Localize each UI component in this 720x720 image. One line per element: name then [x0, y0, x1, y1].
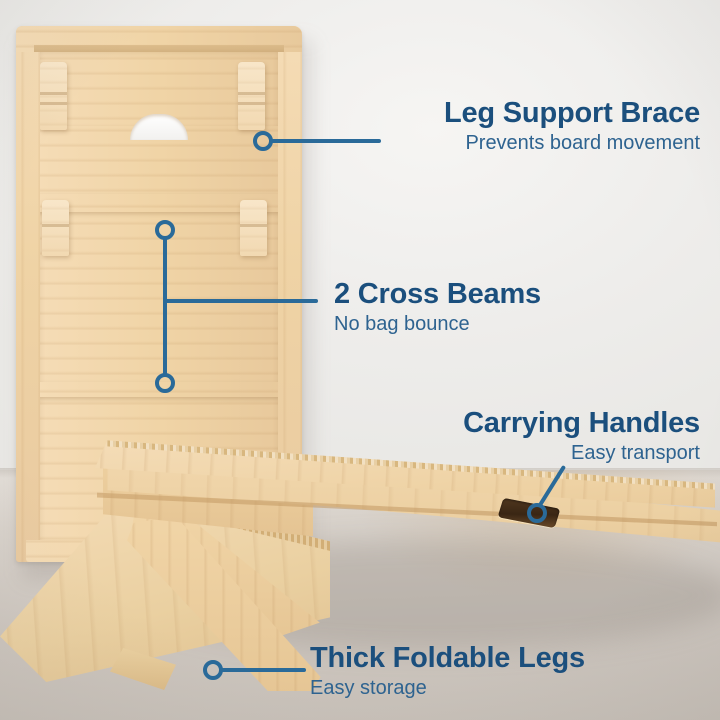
leg-support-brace-top-right: [238, 62, 265, 130]
leg-support-brace-bottom-right: [240, 200, 267, 256]
callout-foldable-legs: Thick Foldable Legs Easy storage: [310, 643, 585, 700]
callout-subtitle-foldable-legs: Easy storage: [310, 677, 585, 701]
callout-leader-foldable-legs: [221, 668, 306, 672]
standing-board-rail-top: [16, 26, 302, 52]
callout-title-leg-support-brace: Leg Support Brace: [444, 98, 700, 129]
callout-title-cross-beams: 2 Cross Beams: [334, 279, 541, 310]
callout-carrying-handles: Carrying Handles Easy transport: [463, 408, 700, 465]
callout-leader-cross-beams-vertical: [163, 238, 167, 375]
callout-leader-cross-beams-horizontal: [163, 299, 318, 303]
infographic-canvas: Leg Support Brace Prevents board movemen…: [0, 0, 720, 720]
callout-marker-foldable-legs[interactable]: [203, 660, 223, 680]
callout-leader-leg-support-brace: [271, 139, 381, 143]
callout-subtitle-leg-support-brace: Prevents board movement: [444, 132, 700, 156]
callout-marker-leg-support-brace[interactable]: [253, 131, 273, 151]
callout-leg-support-brace: Leg Support Brace Prevents board movemen…: [444, 98, 700, 155]
callout-marker-carrying-handles[interactable]: [527, 503, 547, 523]
callout-title-foldable-legs: Thick Foldable Legs: [310, 643, 585, 674]
leg-support-brace-bottom-left: [42, 200, 69, 256]
callout-title-carrying-handles: Carrying Handles: [463, 408, 700, 439]
callout-cross-beams: 2 Cross Beams No bag bounce: [334, 279, 541, 336]
callout-marker-cross-beam-upper[interactable]: [155, 220, 175, 240]
callout-marker-cross-beam-lower[interactable]: [155, 373, 175, 393]
callout-subtitle-cross-beams: No bag bounce: [334, 313, 541, 337]
standing-board-rail-left: [16, 26, 40, 562]
callout-subtitle-carrying-handles: Easy transport: [463, 442, 700, 466]
leg-support-brace-top-left: [40, 62, 67, 130]
